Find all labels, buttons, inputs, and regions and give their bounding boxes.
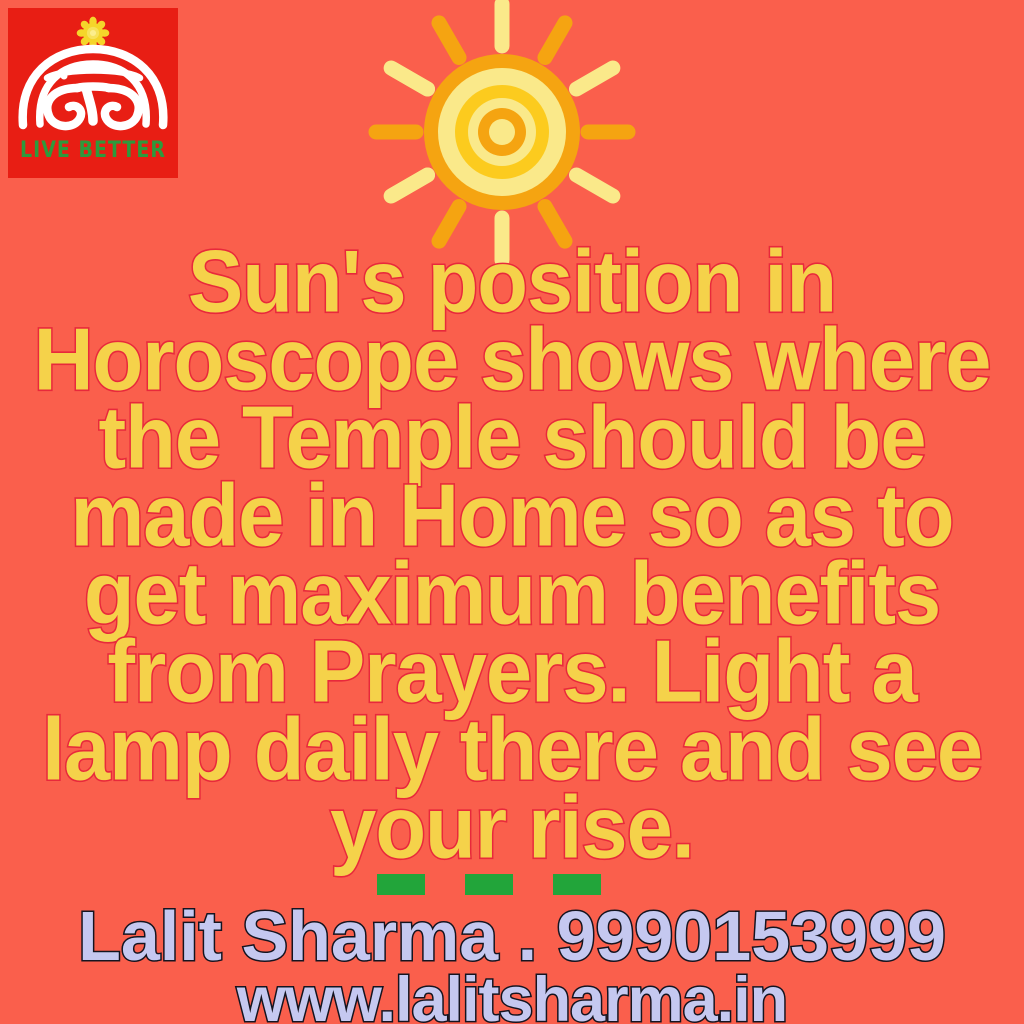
devanagari-om-symbol-icon: [14, 40, 172, 140]
brand-logo[interactable]: LIVE BETTER: [8, 8, 178, 178]
divider-dash: [377, 874, 425, 895]
footer-contact: Lalit Sharma . 9990153999: [0, 903, 1024, 969]
headline-block: Sun's position in Horoscope shows where …: [0, 243, 1024, 867]
divider-dash: [553, 874, 601, 895]
footer-website[interactable]: www.lalitsharma.in: [0, 969, 1024, 1024]
poster-canvas: LIVE BETTER: [0, 0, 1024, 1024]
divider-dashes: [377, 874, 601, 895]
logo-caption: LIVE BETTER: [8, 140, 178, 162]
divider-dash: [465, 874, 513, 895]
footer-block: Lalit Sharma . 9990153999 www.lalitsharm…: [0, 903, 1024, 1024]
headline-line: your rise.: [0, 787, 1024, 870]
